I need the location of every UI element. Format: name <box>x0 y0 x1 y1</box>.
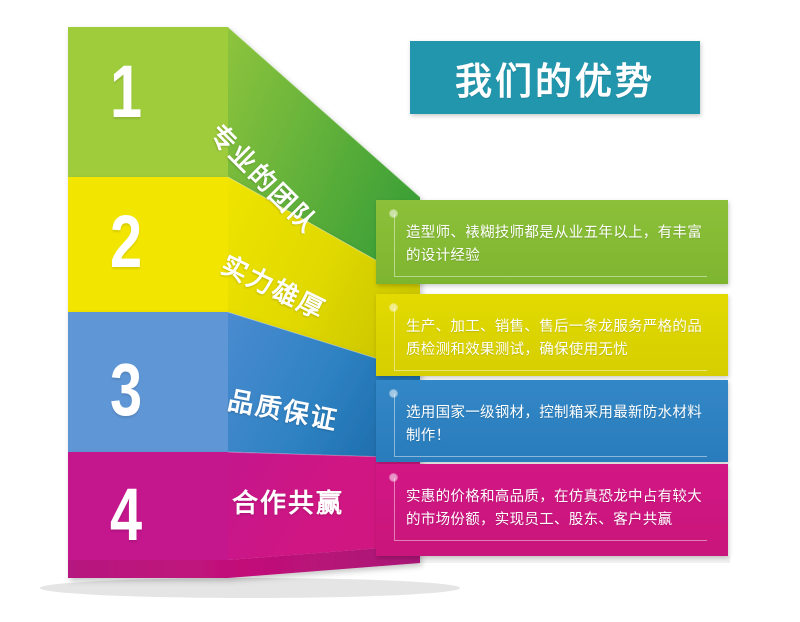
content-box-4: 实惠的价格和高品质，在仿真恐龙中占有较大的市场份额，实现员工、股东、客户共赢 <box>376 464 728 556</box>
bullet-dot-icon <box>390 474 397 481</box>
content-text-3: 选用国家一级钢材，控制箱采用最新防水材料制作！ <box>406 402 702 448</box>
step-number-2: 2 <box>110 205 142 279</box>
content-box-2: 生产、加工、销售、售后一条龙服务严格的品质检测和效果测试，确保使用无忧 <box>376 294 728 376</box>
ribbon-label-4: 合作共赢 <box>232 483 344 520</box>
bullet-dot-icon <box>390 210 397 217</box>
step-number-1: 1 <box>110 55 142 129</box>
bullet-dot-icon <box>390 390 397 397</box>
content-text-1: 造型师、裱糊技师都是从业五年以上，有丰富的设计经验 <box>406 222 702 268</box>
content-box-3: 选用国家一级钢材，控制箱采用最新防水材料制作！ <box>376 380 728 462</box>
content-text-2: 生产、加工、销售、售后一条龙服务严格的品质检测和效果测试，确保使用无忧 <box>406 316 702 362</box>
content-box-1: 造型师、裱糊技师都是从业五年以上，有丰富的设计经验 <box>376 200 728 284</box>
content-text-4: 实惠的价格和高品质，在仿真恐龙中占有较大的市场份额，实现员工、股东、客户共赢 <box>406 486 702 532</box>
step-number-4: 4 <box>110 478 142 552</box>
infographic-canvas: 我们的优势 1 2 3 4 专业的团队 实力雄厚 品质保证 合作共赢 造型师、裱… <box>0 0 800 622</box>
step-number-3: 3 <box>110 353 142 427</box>
page-title: 我们的优势 <box>455 51 655 105</box>
page-title-banner: 我们的优势 <box>410 41 700 114</box>
bullet-dot-icon <box>390 304 397 311</box>
